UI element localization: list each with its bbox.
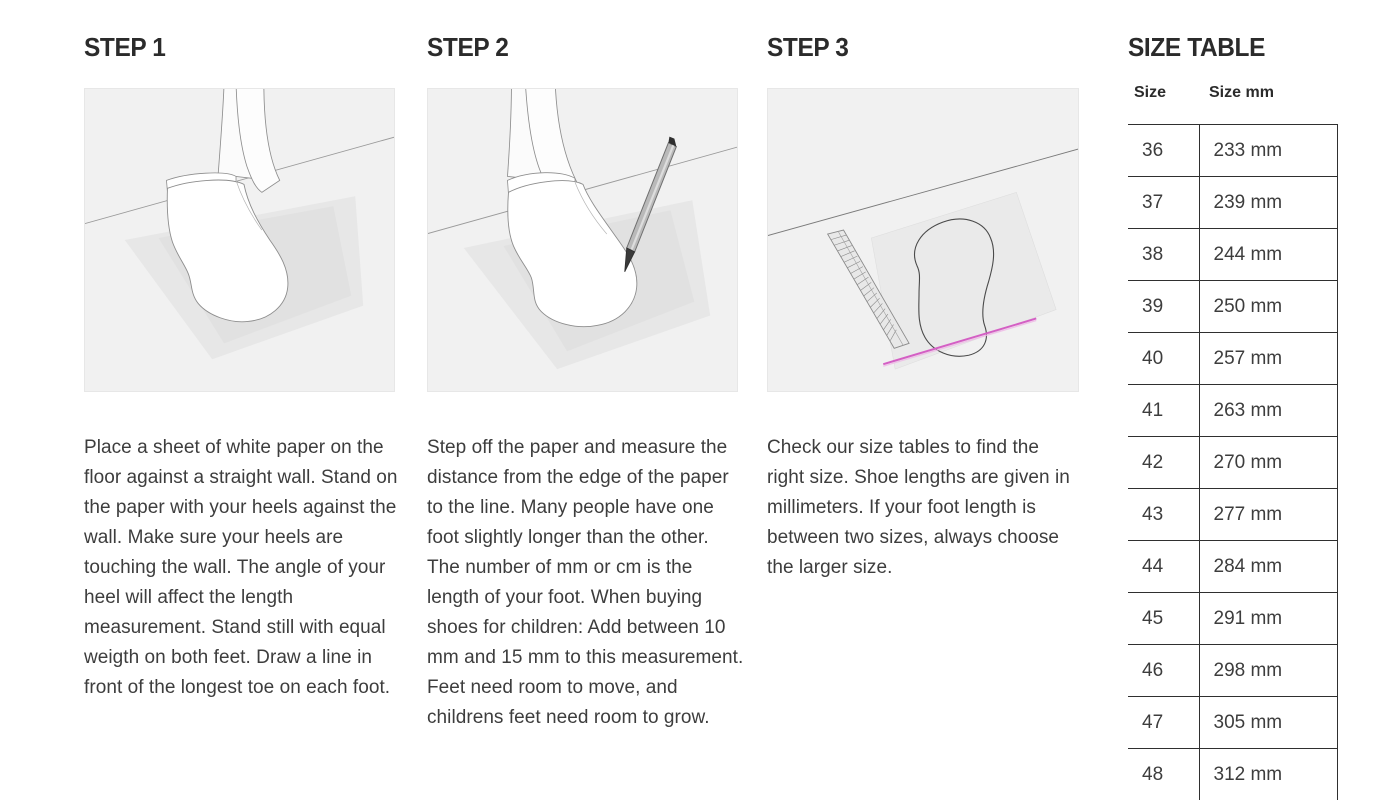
size-table: Size Size mm 36233 mm37239 mm38244 mm392… <box>1128 84 1338 800</box>
cell-size-mm: 298 mm <box>1199 645 1337 697</box>
column-header-size-mm: Size mm <box>1199 84 1337 125</box>
column-header-size: Size <box>1128 84 1199 125</box>
table-row: 48312 mm <box>1128 749 1337 800</box>
table-row: 45291 mm <box>1128 593 1337 645</box>
cell-size: 38 <box>1128 229 1199 281</box>
size-table-head: Size Size mm <box>1128 84 1337 125</box>
size-table-title: SIZE TABLE <box>1128 32 1265 63</box>
cell-size: 43 <box>1128 489 1199 541</box>
cell-size: 39 <box>1128 281 1199 333</box>
size-table-header-row: Size Size mm <box>1128 84 1337 125</box>
cell-size-mm: 277 mm <box>1199 489 1337 541</box>
table-row: 40257 mm <box>1128 333 1337 385</box>
cell-size-mm: 257 mm <box>1199 333 1337 385</box>
cell-size-mm: 250 mm <box>1199 281 1337 333</box>
table-row: 47305 mm <box>1128 697 1337 749</box>
cell-size: 36 <box>1128 125 1199 177</box>
step-1-text: Place a sheet of white paper on the floo… <box>84 433 404 703</box>
step-2-heading: STEP 2 <box>427 32 509 63</box>
table-row: 44284 mm <box>1128 541 1337 593</box>
step-1-heading: STEP 1 <box>84 32 166 63</box>
table-row: 37239 mm <box>1128 177 1337 229</box>
cell-size-mm: 263 mm <box>1199 385 1337 437</box>
cell-size-mm: 305 mm <box>1199 697 1337 749</box>
step-2-text: Step off the paper and measure the dista… <box>427 433 745 733</box>
step-1-illustration <box>84 88 395 392</box>
cell-size: 42 <box>1128 437 1199 489</box>
table-row: 36233 mm <box>1128 125 1337 177</box>
table-row: 42270 mm <box>1128 437 1337 489</box>
step-3-heading: STEP 3 <box>767 32 849 63</box>
cell-size-mm: 284 mm <box>1199 541 1337 593</box>
cell-size: 41 <box>1128 385 1199 437</box>
cell-size-mm: 312 mm <box>1199 749 1337 800</box>
cell-size: 37 <box>1128 177 1199 229</box>
table-row: 38244 mm <box>1128 229 1337 281</box>
step-3-text: Check our size tables to find the right … <box>767 433 1077 583</box>
cell-size-mm: 291 mm <box>1199 593 1337 645</box>
cell-size: 44 <box>1128 541 1199 593</box>
size-table-body: 36233 mm37239 mm38244 mm39250 mm40257 mm… <box>1128 125 1337 800</box>
cell-size: 45 <box>1128 593 1199 645</box>
step-2-illustration <box>427 88 738 392</box>
table-row: 39250 mm <box>1128 281 1337 333</box>
cell-size: 47 <box>1128 697 1199 749</box>
cell-size: 40 <box>1128 333 1199 385</box>
size-guide-page: STEP 1 Place a sh <box>0 0 1377 795</box>
cell-size-mm: 239 mm <box>1199 177 1337 229</box>
table-row: 46298 mm <box>1128 645 1337 697</box>
table-row: 43277 mm <box>1128 489 1337 541</box>
cell-size-mm: 233 mm <box>1199 125 1337 177</box>
step-3-illustration <box>767 88 1079 392</box>
cell-size-mm: 270 mm <box>1199 437 1337 489</box>
cell-size: 46 <box>1128 645 1199 697</box>
cell-size-mm: 244 mm <box>1199 229 1337 281</box>
cell-size: 48 <box>1128 749 1199 800</box>
table-row: 41263 mm <box>1128 385 1337 437</box>
